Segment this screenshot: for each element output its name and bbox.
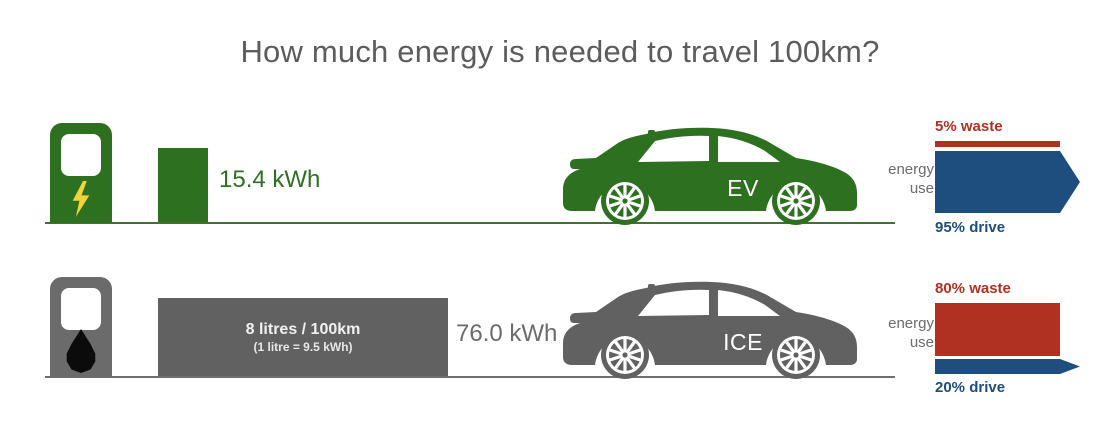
- drive-arrow-ice: [935, 359, 1080, 374]
- fuel-pump-icon: [50, 277, 112, 377]
- energy-value-ev: 15.4 kWh: [219, 166, 320, 194]
- lightning-bolt-icon: [68, 181, 94, 217]
- fuel-conversion-label: (1 litre = 9.5 kWh): [253, 339, 352, 355]
- drive-label-ev: 95% drive: [935, 219, 1005, 236]
- pump-screen-icon: [61, 288, 101, 330]
- ev-charger-icon: [50, 123, 112, 223]
- energy-bar-ice: 8 litres / 100km (1 litre = 9.5 kWh): [158, 298, 448, 376]
- energy-value-ice: 76.0 kWh: [456, 320, 557, 348]
- waste-bar-ice: [935, 303, 1060, 356]
- energy-use-line-1: energy: [868, 160, 934, 179]
- page-title: How much energy is needed to travel 100k…: [0, 34, 1120, 70]
- infographic-canvas: How much energy is needed to travel 100k…: [0, 0, 1120, 447]
- energy-use-line-2: use: [868, 179, 934, 198]
- charger-screen-icon: [61, 134, 101, 176]
- car-badge-ice: ICE: [698, 329, 788, 356]
- energy-use-label-ev: energy use: [868, 160, 934, 198]
- energy-split-chart-ev: 5% waste 95% drive: [935, 118, 1080, 238]
- fuel-consumption-label: 8 litres / 100km: [246, 320, 361, 339]
- car-illustration-ev: EV: [560, 117, 860, 225]
- car-illustration-ice: ICE: [560, 271, 860, 379]
- energy-use-line-1: energy: [868, 314, 934, 333]
- energy-use-line-2: use: [868, 333, 934, 352]
- waste-label-ice: 80% waste: [935, 280, 1011, 297]
- waste-label-ev: 5% waste: [935, 118, 1003, 135]
- car-badge-ev: EV: [698, 175, 788, 202]
- energy-use-label-ice: energy use: [868, 314, 934, 352]
- waste-bar-ev: [935, 141, 1060, 147]
- drive-label-ice: 20% drive: [935, 379, 1005, 396]
- energy-split-chart-ice: 80% waste 20% drive: [935, 274, 1080, 396]
- drive-arrow-ev: [935, 151, 1080, 213]
- oil-droplet-icon: [64, 329, 98, 373]
- energy-bar-ev: [158, 148, 208, 222]
